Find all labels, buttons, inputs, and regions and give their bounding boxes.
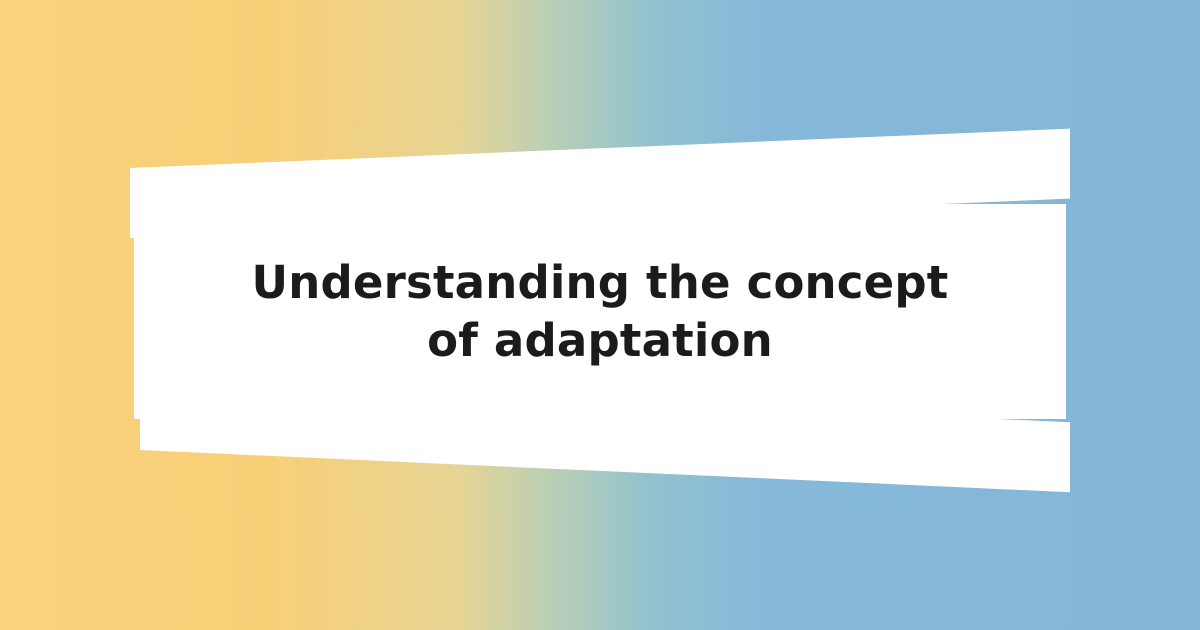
- page-title: Understanding the concept of adaptation: [250, 254, 950, 369]
- title-card-content: Understanding the concept of adaptation: [134, 204, 1066, 419]
- banner-image: Understanding the concept of adaptation: [0, 0, 1200, 630]
- title-card: Understanding the concept of adaptation: [134, 204, 1066, 419]
